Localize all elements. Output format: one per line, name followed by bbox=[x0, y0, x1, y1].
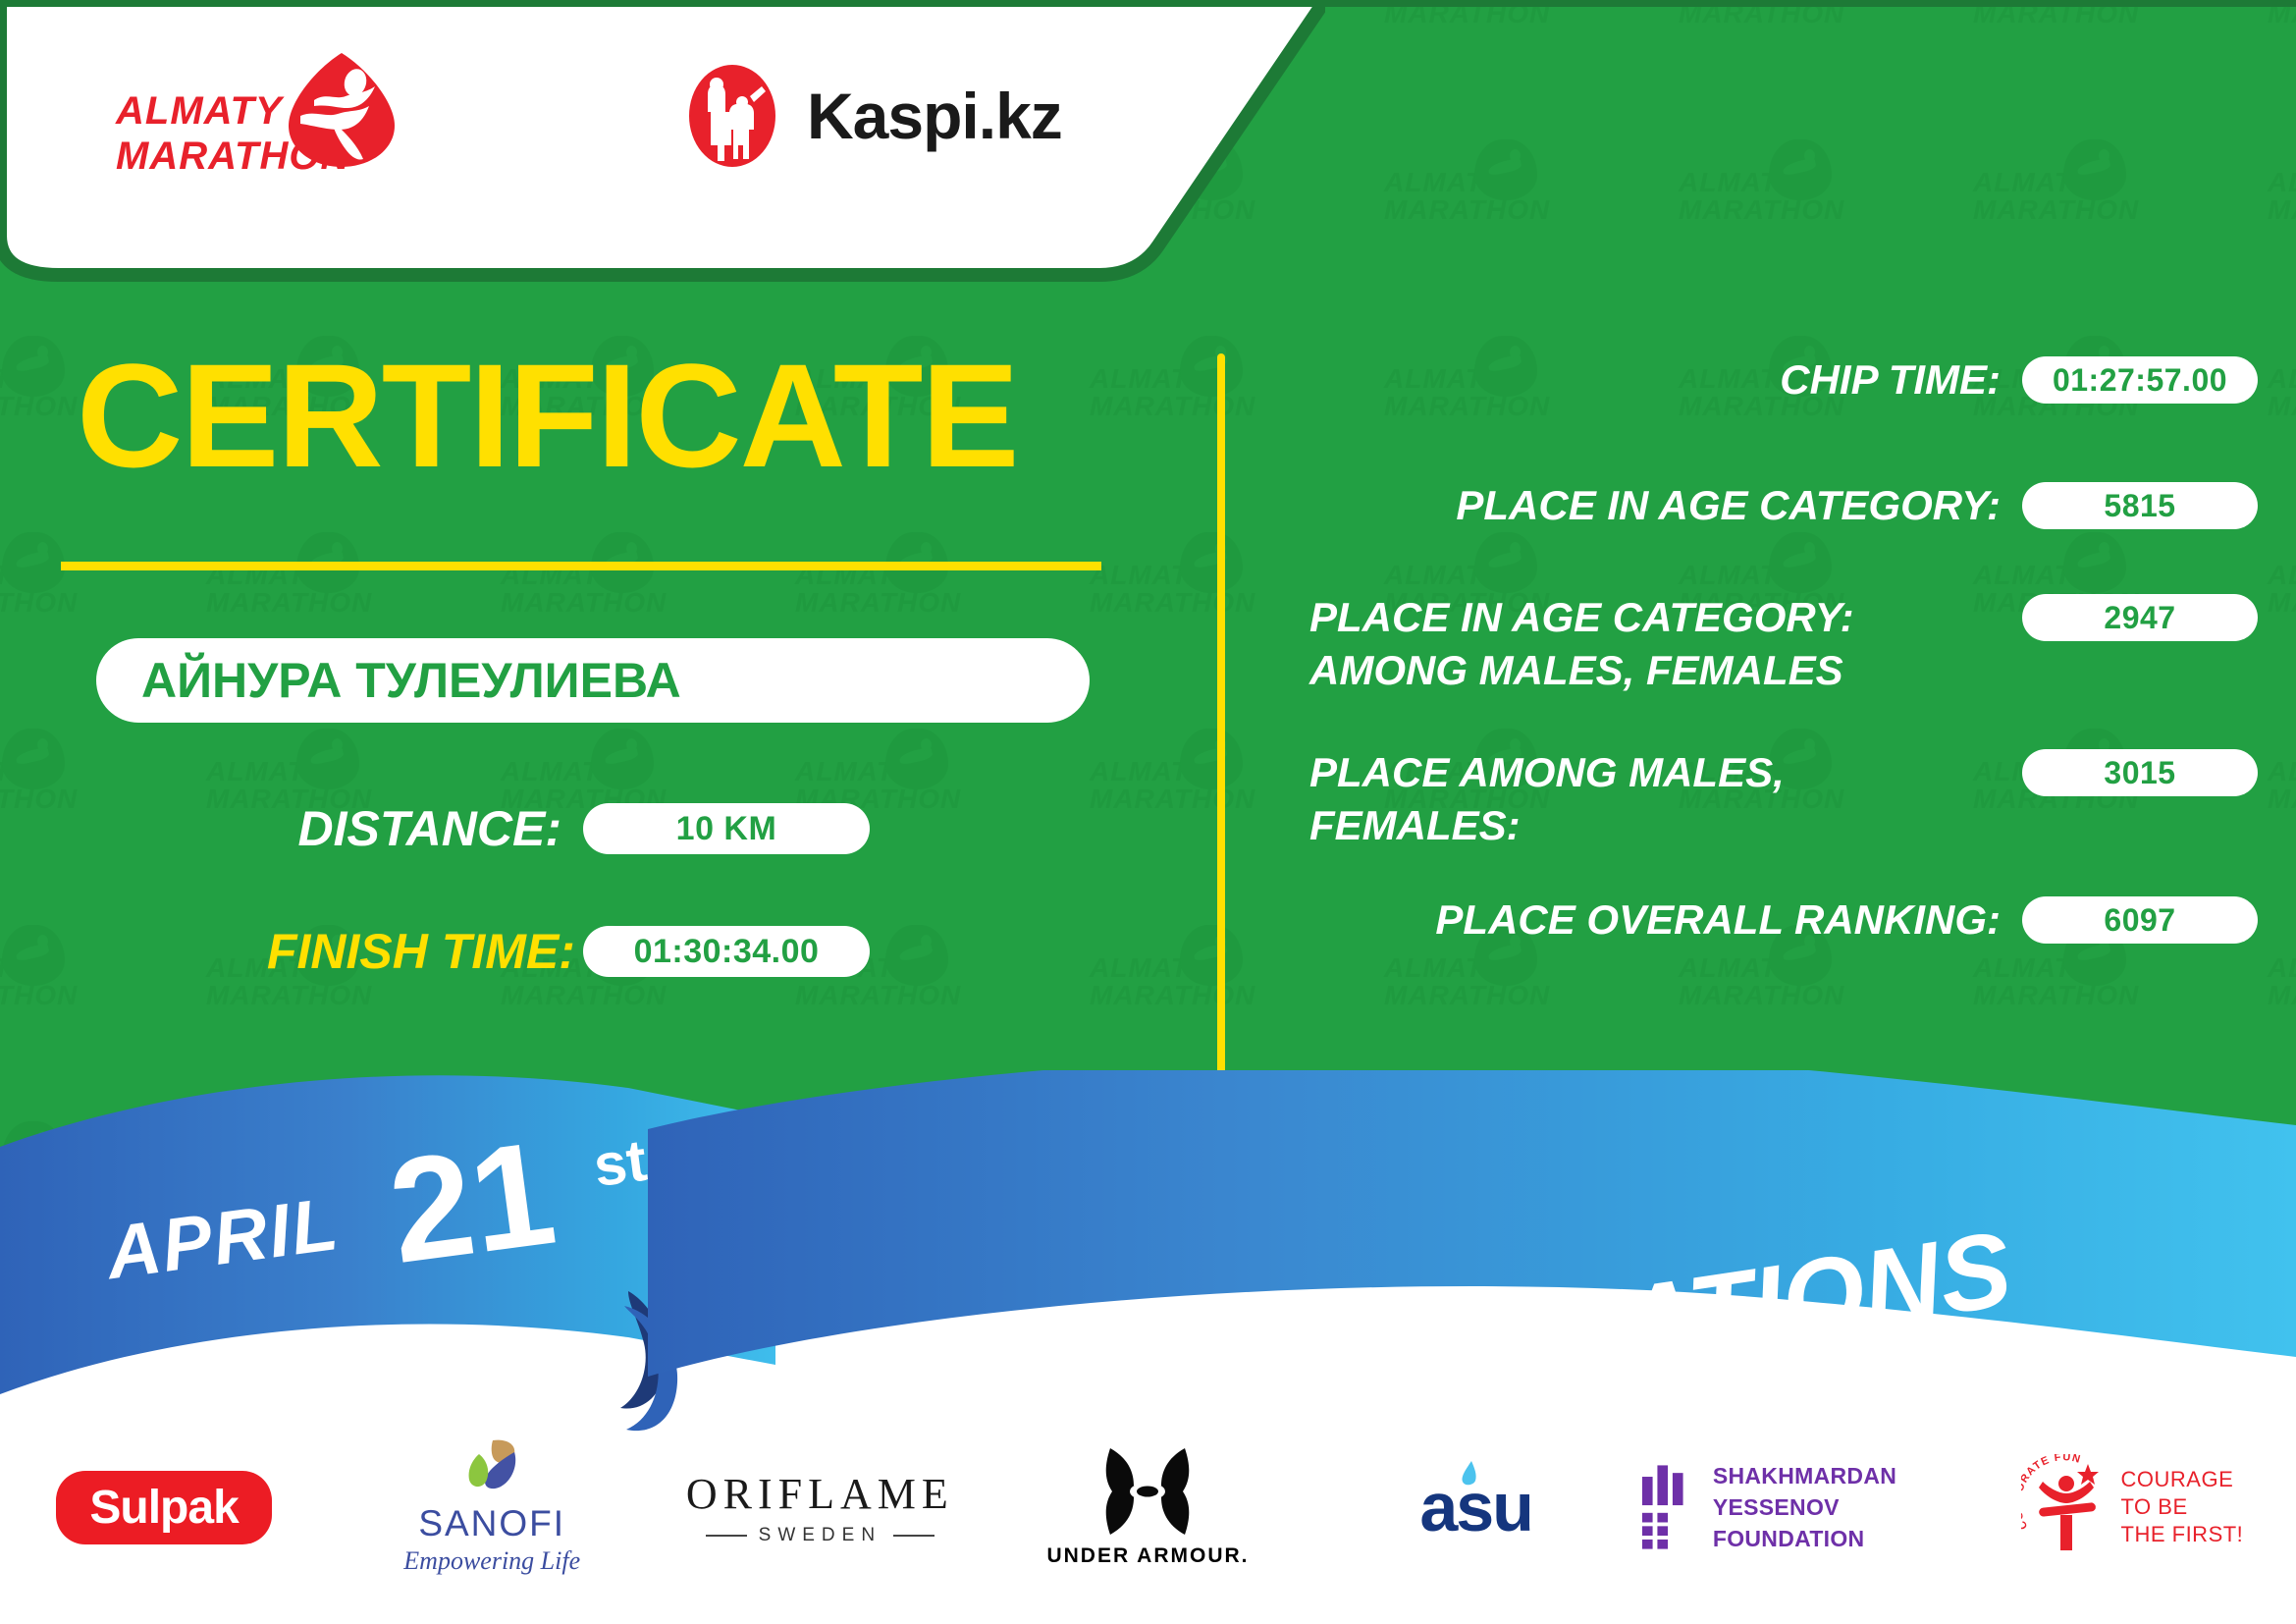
stat-row-place-among-males-females: PLACE AMONG MALES, FEMALES: 3015 bbox=[1276, 746, 2258, 852]
watermark-line1: ALMATY bbox=[2268, 560, 2296, 591]
ribbon-ordinal-suffix: st bbox=[590, 1126, 651, 1200]
oriflame-rule-left bbox=[706, 1535, 747, 1537]
place-among-males-females-value: 3015 bbox=[2022, 749, 2258, 796]
watermark-drop-icon bbox=[1180, 925, 1243, 986]
watermark-line1: ALMATY bbox=[1679, 167, 1797, 198]
chip-time-pill-wrap: 01:27:57.00 bbox=[2022, 353, 2258, 404]
stat-row-place-overall-ranking: PLACE OVERALL RANKING: 6097 bbox=[1276, 893, 2258, 947]
watermark-tile: ALMATYMARATHON bbox=[1620, 137, 1914, 334]
watermark-tile: ALMATYMARATHON bbox=[1325, 137, 1620, 334]
watermark-tile: ALMATYMARATHON bbox=[1914, 137, 2209, 334]
place-overall-ranking-label: PLACE OVERALL RANKING: bbox=[1276, 893, 2022, 947]
watermark-drop-icon bbox=[1180, 336, 1243, 397]
ribbon-banner: APRIL 21 st RUN FOR SENSATIONS bbox=[0, 1070, 2296, 1492]
watermark-drop-icon bbox=[2063, 139, 2126, 200]
stat-row-place-age-category-among: PLACE IN AGE CATEGORY: AMONG MALES, FEMA… bbox=[1276, 591, 2258, 697]
place-age-category-among-pill-wrap: 2947 bbox=[2022, 591, 2258, 641]
watermark-drop-icon bbox=[1180, 532, 1243, 593]
oriflame-sub-text: SWEDEN bbox=[759, 1525, 881, 1546]
top-accent-strip bbox=[0, 0, 2296, 7]
under-armour-logo-text: UNDER ARMOUR. bbox=[1046, 1544, 1249, 1568]
watermark-drop-icon bbox=[1474, 139, 1537, 200]
header-panel: ALMATY MARATHON Kaspi.kz bbox=[0, 0, 1325, 285]
place-age-category-among-label: PLACE IN AGE CATEGORY: AMONG MALES, FEMA… bbox=[1276, 591, 2022, 697]
watermark-line1: ALMATY bbox=[1384, 167, 1503, 198]
place-overall-ranking-pill-wrap: 6097 bbox=[2022, 893, 2258, 944]
watermark-line2: MARATHON bbox=[1679, 194, 1844, 226]
certificate-page: ALMATYMARATHONALMATYMARATHONALMATYMARATH… bbox=[0, 0, 2296, 1624]
place-overall-ranking-value: 6097 bbox=[2022, 896, 2258, 944]
kaspi-logo-text: Kaspi.kz bbox=[807, 79, 1062, 153]
sanofi-logo-text: SANOFI bbox=[418, 1503, 565, 1544]
vertical-divider bbox=[1217, 353, 1225, 1100]
place-among-males-females-label-line2: FEMALES: bbox=[1309, 799, 2022, 852]
sanofi-tagline: Empowering Life bbox=[403, 1546, 580, 1576]
watermark-line2: MARATHON bbox=[2268, 194, 2296, 226]
left-panel: CERTIFICATE АЙНУРА ТУЛЕУЛИЕВА bbox=[0, 295, 1158, 1021]
kaspi-people-icon bbox=[677, 61, 787, 171]
watermark-line2: MARATHON bbox=[2268, 391, 2296, 422]
yessenov-line2: FOUNDATION bbox=[1713, 1523, 1968, 1554]
watermark-line2: MARATHON bbox=[2268, 784, 2296, 815]
place-age-category-among-label-line1: PLACE IN AGE CATEGORY: bbox=[1309, 591, 2022, 644]
right-panel: CHIP TIME: 01:27:57.00 PLACE IN AGE CATE… bbox=[1276, 353, 2258, 1119]
place-age-category-among-value: 2947 bbox=[2022, 594, 2258, 641]
watermark-line1: ALMATY bbox=[1973, 167, 2092, 198]
stat-row-chip-time: CHIP TIME: 01:27:57.00 bbox=[1276, 353, 2258, 406]
watermark-line2: MARATHON bbox=[2268, 587, 2296, 619]
place-age-category-label: PLACE IN AGE CATEGORY: bbox=[1276, 479, 2022, 532]
ribbon-day: 21 bbox=[380, 1108, 562, 1297]
place-among-males-females-label: PLACE AMONG MALES, FEMALES: bbox=[1276, 746, 2022, 852]
watermark-drop-icon bbox=[1769, 139, 1832, 200]
place-among-males-females-label-line1: PLACE AMONG MALES, bbox=[1309, 746, 2022, 799]
oriflame-rule-right bbox=[893, 1535, 934, 1537]
chip-time-label: CHIP TIME: bbox=[1276, 353, 2022, 406]
almaty-marathon-logo: ALMATY MARATHON bbox=[116, 51, 450, 184]
watermark-tile: ALMATYMARATHON bbox=[2209, 137, 2296, 334]
title-underline bbox=[61, 562, 1101, 570]
watermark-drop-icon bbox=[1180, 729, 1243, 789]
page-title: CERTIFICATE bbox=[77, 342, 1018, 489]
watermark-line2: MARATHON bbox=[1973, 194, 2139, 226]
chip-time-value: 01:27:57.00 bbox=[2022, 356, 2258, 404]
participant-name-field: АЙНУРА ТУЛЕУЛИЕВА bbox=[96, 638, 1090, 723]
place-age-category-pill-wrap: 5815 bbox=[2022, 479, 2258, 529]
watermark-line1: ALMATY bbox=[2268, 363, 2296, 395]
watermark-line1: ALMATY bbox=[2268, 756, 2296, 787]
watermark-line2: MARATHON bbox=[2268, 980, 2296, 1011]
courage-line3: THE FIRST! bbox=[2121, 1521, 2244, 1548]
watermark-tile: ALMATYMARATHON bbox=[2209, 0, 2296, 137]
stat-row-place-age-category: PLACE IN AGE CATEGORY: 5815 bbox=[1276, 479, 2258, 532]
place-age-category-value: 5815 bbox=[2022, 482, 2258, 529]
watermark-tile: ALMATYMARATHON bbox=[1620, 0, 1914, 137]
place-among-males-females-pill-wrap: 3015 bbox=[2022, 746, 2258, 796]
watermark-line1: ALMATY bbox=[2268, 167, 2296, 198]
watermark-line2: MARATHON bbox=[1384, 194, 1550, 226]
courage-line2: TO BE bbox=[2121, 1493, 2244, 1521]
oriflame-sub: SWEDEN bbox=[706, 1525, 934, 1546]
watermark-tile: ALMATYMARATHON bbox=[1325, 0, 1620, 137]
watermark-line1: ALMATY bbox=[2268, 952, 2296, 984]
place-age-category-among-label-line2: AMONG MALES, FEMALES bbox=[1309, 644, 2022, 697]
runner-drop-icon bbox=[285, 51, 399, 169]
participant-name: АЙНУРА ТУЛЕУЛИЕВА bbox=[141, 652, 681, 709]
watermark-tile: ALMATYMARATHON bbox=[1914, 0, 2209, 137]
kaspi-logo: Kaspi.kz bbox=[677, 61, 1062, 171]
